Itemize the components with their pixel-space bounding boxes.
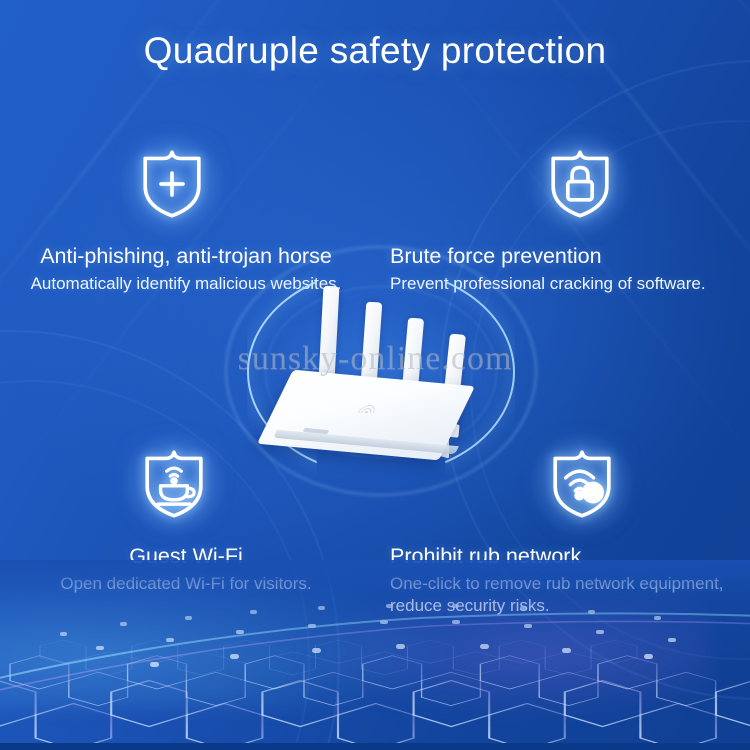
promo-banner: Quadruple safety protection Anti-phishin… [0, 0, 750, 750]
router-antenna-1 [319, 286, 340, 381]
wireless-router [263, 286, 503, 458]
hex-grid-svg [0, 560, 750, 750]
bottom-edge-bar [0, 743, 750, 750]
shield-wifi-alert-icon [530, 432, 634, 536]
shield-lock-icon [528, 132, 632, 236]
shield-coffee-wifi-icon [122, 432, 226, 536]
page-title: Quadruple safety protection [0, 30, 750, 72]
shield-plus-icon [120, 132, 224, 236]
product-showcase [235, 272, 525, 472]
hex-grid-floor [0, 560, 750, 750]
